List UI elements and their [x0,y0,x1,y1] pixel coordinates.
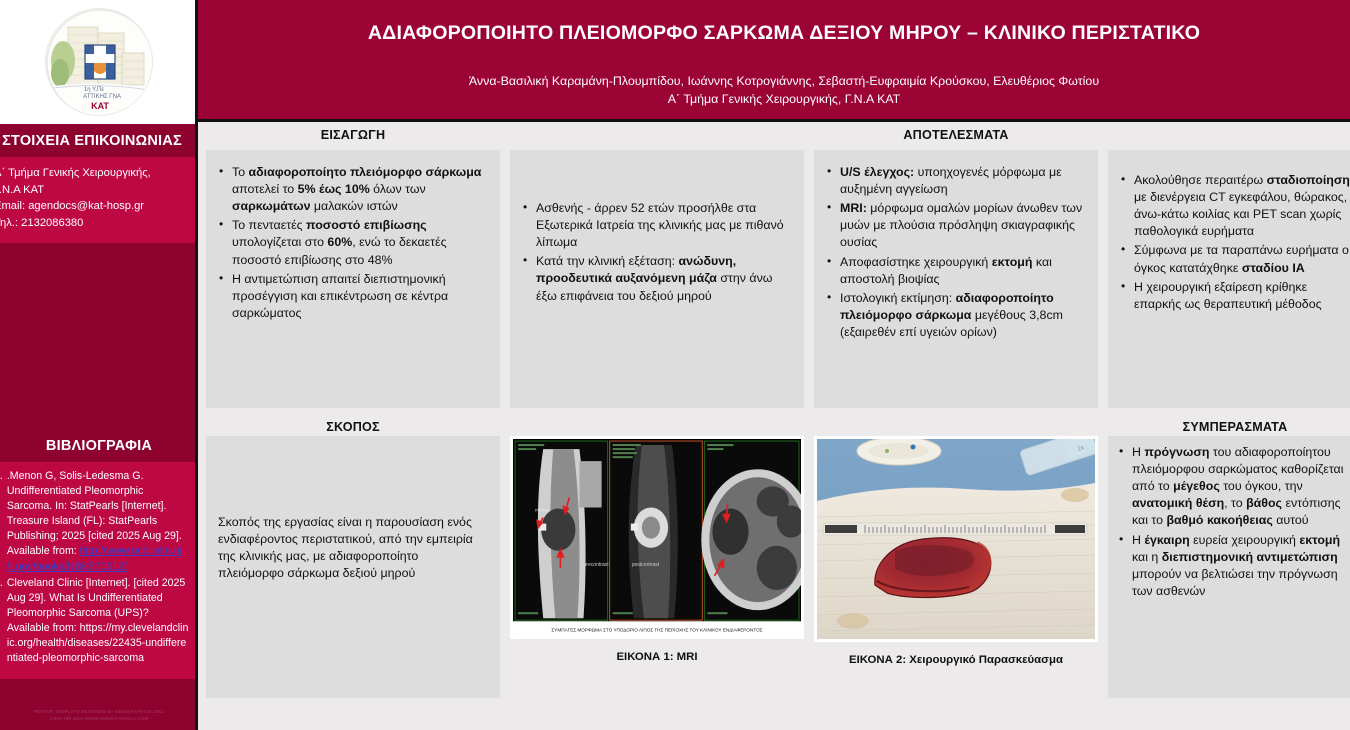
panel-case: Ασθενής - άρρεν 52 ετών προσήλθε στα Εξω… [510,150,804,408]
poster-body: ΕΙΣΑΓΩΓΗ ΑΠΟΤΕΛΕΣΜΑΤΑ Το αδιαφοροποίητο … [198,122,1350,730]
emphasis-text: 5% έως 10% [298,182,370,196]
contact-line-1: Α΄ Τμήμα Γενικής Χειρουργικής, [0,165,192,182]
mri-marker-label: marker [535,507,550,512]
mri-inner-caption: ΣΥΜΠΑΓΕΣ ΜΟΡΦΩΜΑ ΣΤΟ ΥΠΟΔΟΡΙΟ ΛΙΠΟΣ ΤΗΣ … [551,627,762,632]
body-text: αυτού [1273,513,1309,527]
mri-image: marker precontrast postcontrast [513,439,801,636]
results-bullet: MRI: μόρφωμα ομαλών μορίων άνωθεν των μυ… [826,200,1086,251]
results-bullet: Αποφασίστηκε χειρουργική εκτομή και αποσ… [826,254,1086,288]
hospital-logo-icon: 1η Υ.Πε ΑΤΤΙΚΗΣ ΓΝΑ ΚΑΤ [45,8,153,116]
body-text: και η [1132,550,1162,564]
emphasis-text: εκτομή [1299,533,1340,547]
results-bullet-list: U/S έλεγχος: υποηχογενές μόρφωμα με αυξη… [826,164,1086,341]
reference-item: 1. .Menon G, Solis-Ledesma G. Undifferen… [0,469,190,574]
logo-box: 1η Υ.Πε ΑΤΤΙΚΗΣ ΓΝΑ ΚΑΤ [0,0,198,124]
emphasis-text: βάθος [1246,496,1282,510]
hospital-logo-svg: 1η Υ.Πε ΑΤΤΙΚΗΣ ΓΝΑ ΚΑΤ [46,9,153,116]
poster-root: 1η Υ.Πε ΑΤΤΙΚΗΣ ΓΝΑ ΚΑΤ ΣΤΟΙΧΕΙΑ ΕΠΙΚΟΙΝ… [0,0,1350,730]
section-title-intro: ΕΙΣΑΓΩΓΗ [206,128,500,150]
body-text: Ασθενής - άρρεν 52 ετών προσήλθε στα Εξω… [536,201,784,249]
emphasis-text: σταδίου ΙΑ [1242,261,1305,275]
emphasis-text: βαθμό κακοήθειας [1166,513,1272,527]
section-title-aim: ΣΚΟΠΟΣ [206,420,500,436]
section-title-conclusions: ΣΥΜΠΕΡΑΣΜΑΤΑ [1108,420,1350,436]
intro-bullet: Το αδιαφοροποίητο πλειόμορφο σάρκωμα απο… [218,164,488,215]
mri-postcontrast-label: postcontrast [632,562,660,568]
mri-precontrast-label: precontrast [583,562,609,568]
body-text: Αποφασίστηκε χειρουργική [840,255,992,269]
emphasis-text: 60% [327,235,352,249]
panel-conclusions: Η πρόγνωση του αδιαφοροποίητου πλειόμορφ… [1108,436,1350,698]
contact-email: Email: agendocs@kat-hosp.gr [0,198,192,215]
figure-1-frame: marker precontrast postcontrast [510,436,804,639]
main-area: ΑΔΙΑΦΟΡΟΠΟΙΗΤΟ ΠΛΕΙΟΜΟΡΦΟ ΣΑΡΚΩΜΑ ΔΕΞΙΟΥ… [198,0,1350,730]
staging-bullet-list: Ακολούθησε περαιτέρω σταδιοποίηση με διε… [1120,172,1350,313]
contact-phone: Τηλ.: 2132086380 [0,215,192,232]
results-bullet: Ιστολογική εκτίμηση: αδιαφοροποίητο πλει… [826,290,1086,341]
row2-panels: Σκοπός της εργασίας είναι η παρουσίαση ε… [206,436,1350,698]
intro-bullet-list: Το αδιαφοροποίητο πλειόμορφο σάρκωμα απο… [218,164,488,322]
body-text: μαλακών ιστών [310,199,397,213]
emphasis-text: διεπιστημονική αντιμετώπιση [1162,550,1338,564]
intro-bullet: Το πενταετές ποσοστό επιβίωσης υπολογίζε… [218,217,488,268]
body-text: μπορούν να βελτιώσει την πρόγνωση των ασ… [1132,567,1338,598]
body-text: αποτελεί το [232,182,298,196]
intro-bullet: Η αντιμετώπιση απαιτεί διεπιστημονική πρ… [218,271,488,322]
emphasis-text: εκτομή [992,255,1033,269]
body-text: Η [1132,533,1144,547]
panel-results: U/S έλεγχος: υποηχογενές μόρφωμα με αυξη… [814,150,1098,408]
staging-bullet: Σύμφωνα με τα παραπάνω ευρήματα ο όγκος … [1120,242,1350,276]
body-text: Το πενταετές [232,218,306,232]
case-bullet-list: Ασθενής - άρρεν 52 ετών προσήλθε στα Εξω… [522,200,792,305]
emphasis-text: αδιαφοροποίητο πλειόμορφο σάρκωμα [249,165,482,179]
template-credit: POSTER TEMPLATE DESIGNED BY GENIGRAPHICS… [0,709,198,722]
emphasis-text: MRI: [840,201,867,215]
emphasis-text: σαρκωμάτων [232,199,310,213]
reference-body: .Menon G, Solis-Ledesma G. Undifferentia… [7,469,190,574]
staging-bullet: Η χειρουργική εξαίρεση κρίθηκε επαρκής ω… [1120,279,1350,313]
bibliography-block: 1. .Menon G, Solis-Ledesma G. Undifferen… [0,462,198,678]
sidebar: 1η Υ.Πε ΑΤΤΙΚΗΣ ΓΝΑ ΚΑΤ ΣΤΟΙΧΕΙΑ ΕΠΙΚΟΙΝ… [0,0,198,730]
authors-line: Άννα-Βασιλική Καραμάνη-Πλουμπίδου, Ιωάνν… [198,72,1350,91]
emphasis-text: μέγεθος [1173,479,1220,493]
results-bullet: U/S έλεγχος: υποηχογενές μόρφωμα με αυξη… [826,164,1086,198]
panel-intro: Το αδιαφοροποίητο πλειόμορφο σάρκωμα απο… [206,150,500,408]
reference-body: Cleveland Clinic [Internet]. [cited 2025… [7,576,190,666]
author-list: Άννα-Βασιλική Καραμάνη-Πλουμπίδου, Ιωάνν… [198,72,1350,109]
body-text: μόρφωμα ομαλών μορίων άνωθεν των μυών με… [840,201,1082,249]
body-text: του όγκου, την [1220,479,1303,493]
body-text: με διενέργεια CT εγκεφάλου, θώρακος, άνω… [1134,190,1347,238]
page-title: ΑΔΙΑΦΟΡΟΠΟΙΗΤΟ ΠΛΕΙΟΜΟΡΦΟ ΣΑΡΚΩΜΑ ΔΕΞΙΟΥ… [198,22,1350,46]
contact-block: Α΄ Τμήμα Γενικής Χειρουργικής, Γ.Ν.Α ΚΑΤ… [0,157,198,243]
body-text: Κατά την κλινική εξέταση: [536,254,679,268]
figure-2-frame: 2x [814,436,1098,642]
body-text: υπολογίζεται στο [232,235,327,249]
body-text: Ακολούθησε περαιτέρω [1134,173,1267,187]
emphasis-text: ποσοστό επιβίωσης [306,218,427,232]
panel-staging: Ακολούθησε περαιτέρω σταδιοποίηση με διε… [1108,150,1350,408]
reference-number: 2. [0,576,7,666]
figure-2: 2x [814,436,1098,698]
body-text: Η χειρουργική εξαίρεση κρίθηκε επαρκής ω… [1134,280,1322,311]
body-text: Η [1132,445,1144,459]
emphasis-text: U/S έλεγχος: [840,165,914,179]
contact-heading: ΣΤΟΙΧΕΙΑ ΕΠΙΚΟΙΝΩΝΙΑΣ [0,124,198,157]
figure-1-caption: ΕΙΚΟΝΑ 1: MRI [510,651,804,663]
credit-line-2: 1.800.790.4001 WWW.GENIGRAPHICS.COM [0,716,198,722]
body-text: , το [1224,496,1246,510]
row1-panels: Το αδιαφοροποίητο πλειόμορφο σάρκωμα απο… [206,150,1350,408]
section-title-results: ΑΠΟΤΕΛΕΣΜΑΤΑ [814,128,1098,150]
contact-line-2: Γ.Ν.Α ΚΑΤ [0,182,192,199]
body-text: Ιστολογική εκτίμηση: [840,291,956,305]
aim-text: Σκοπός της εργασίας είναι η παρουσίαση ε… [218,514,484,582]
conclusion-bullet: Η έγκαιρη ευρεία χειρουργική εκτομή και … [1118,532,1350,600]
affiliation-line: Α΄ Τμήμα Γενικής Χειρουργικής, Γ.Ν.Α ΚΑΤ [198,90,1350,109]
body-text: ευρεία χειρουργική [1190,533,1300,547]
bibliography-heading: ΒΙΒΛΙΟΓΡΑΦΙΑ [0,429,198,462]
reference-number: 1. [0,469,7,574]
emphasis-text: έγκαιρη [1144,533,1189,547]
conclusion-bullet: Η πρόγνωση του αδιαφοροποίητου πλειόμορφ… [1118,444,1350,530]
staging-bullet: Ακολούθησε περαιτέρω σταδιοποίηση με διε… [1120,172,1350,240]
figure-2-caption: ΕΙΚΟΝΑ 2: Χειρουργικό Παρασκεύασμα [814,654,1098,666]
poster-header: ΑΔΙΑΦΟΡΟΠΟΙΗΤΟ ΠΛΕΙΟΜΟΡΦΟ ΣΑΡΚΩΜΑ ΔΕΞΙΟΥ… [198,0,1350,122]
logo-line1: 1η Υ.Πε [84,87,104,93]
conclusions-bullet-list: Η πρόγνωση του αδιαφοροποίητου πλειόμορφ… [1118,444,1350,600]
case-bullet: Κατά την κλινική εξέταση: ανώδυνη, προοδ… [522,253,792,304]
logo-line3: ΚΑΤ [91,101,109,111]
figure-1: marker precontrast postcontrast [510,436,804,698]
emphasis-text: πρόγνωση [1144,445,1209,459]
reference-item: 2. Cleveland Clinic [Internet]. [cited 2… [0,576,190,666]
case-bullet: Ασθενής - άρρεν 52 ετών προσήλθε στα Εξω… [522,200,792,251]
row2-titles: ΣΚΟΠΟΣ ΣΥΜΠΕΡΑΣΜΑΤΑ [206,408,1350,436]
emphasis-text: ανατομική θέση [1132,496,1224,510]
row1-titles: ΕΙΣΑΓΩΓΗ ΑΠΟΤΕΛΕΣΜΑΤΑ [206,122,1350,150]
body-text: Το [232,165,249,179]
logo-line2: ΑΤΤΙΚΗΣ ΓΝΑ [83,94,121,100]
body-text: Η αντιμετώπιση απαιτεί διεπιστημονική πρ… [232,272,448,320]
emphasis-text: σταδιοποίηση [1267,173,1350,187]
panel-aim: Σκοπός της εργασίας είναι η παρουσίαση ε… [206,436,500,698]
specimen-image: 2x [817,439,1095,639]
body-text: όλων των [370,182,426,196]
